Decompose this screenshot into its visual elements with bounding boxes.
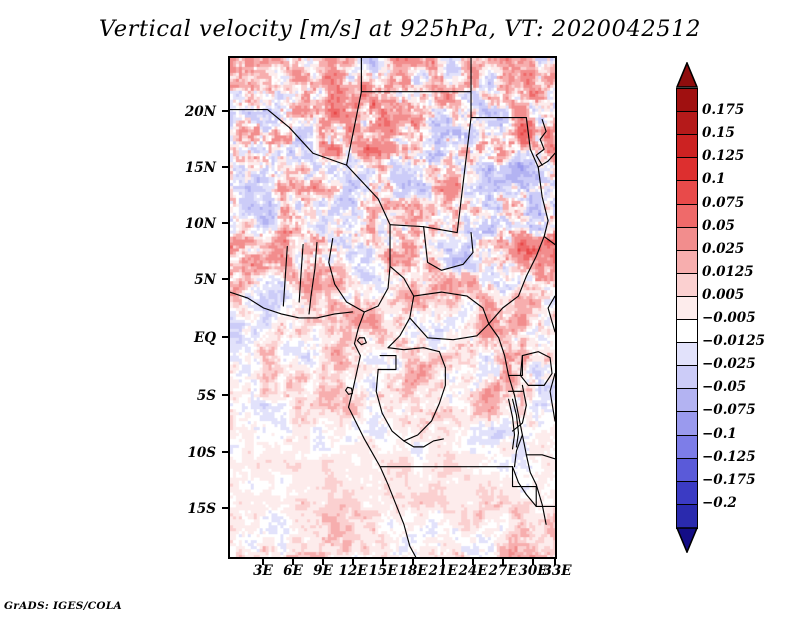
y-axis-label-20N: 20N: [158, 104, 216, 120]
colorbar-tick-label: 0.025: [702, 241, 744, 257]
colorbar-tick-label: 0.125: [702, 148, 744, 164]
colorbar-band: [676, 134, 698, 159]
colorbar-tick-label: 0.005: [702, 287, 744, 303]
colorbar-band: [676, 504, 698, 529]
colorbar-tick-label: −0.2: [702, 495, 737, 511]
y-axis-label-5N: 5N: [158, 272, 216, 288]
colorbar-tick-label: −0.025: [702, 356, 756, 372]
colorbar-min-arrow: [676, 527, 698, 553]
y-axis-label-15N: 15N: [158, 160, 216, 176]
y-axis-label-5S: 5S: [158, 388, 216, 404]
y-tick: [222, 451, 228, 453]
y-tick: [222, 166, 228, 168]
colorbar-band: [676, 481, 698, 506]
colorbar-tick-label: 0.1: [702, 171, 726, 187]
colorbar: [676, 62, 698, 553]
y-tick: [222, 507, 228, 509]
colorbar-tick-label: 0.075: [702, 195, 744, 211]
y-tick: [222, 278, 228, 280]
colorbar-tick-label: −0.0125: [702, 333, 765, 349]
y-tick: [222, 110, 228, 112]
colorbar-tick-label: −0.05: [702, 379, 746, 395]
colorbar-tick-label: 0.05: [702, 218, 735, 234]
colorbar-band: [676, 342, 698, 367]
colorbar-tick-label: −0.1: [702, 426, 737, 442]
colorbar-tick-label: −0.125: [702, 449, 756, 465]
colorbar-band: [676, 88, 698, 113]
colorbar-band: [676, 435, 698, 460]
colorbar-band: [676, 319, 698, 344]
colorbar-band: [676, 411, 698, 436]
colorbar-tick-label: −0.075: [702, 402, 756, 418]
colorbar-tick-label: 0.175: [702, 102, 744, 118]
colorbar-band: [676, 250, 698, 275]
colorbar-band: [676, 458, 698, 483]
colorbar-band: [676, 204, 698, 229]
y-axis-label-10S: 10S: [158, 445, 216, 461]
x-axis-label-33E: 33E: [537, 563, 577, 579]
colorbar-max-arrow: [676, 62, 698, 88]
y-tick: [222, 222, 228, 224]
country-borders-overlay: [230, 58, 555, 557]
y-axis-label-EQ: EQ: [158, 330, 216, 346]
page-title: Vertical velocity [m/s] at 925hPa, VT: 2…: [0, 16, 800, 42]
map-plot-area: [228, 56, 557, 559]
colorbar-band: [676, 273, 698, 298]
y-tick: [222, 394, 228, 396]
colorbar-band: [676, 157, 698, 182]
y-axis-label-10N: 10N: [158, 216, 216, 232]
colorbar-tick-label: −0.005: [702, 310, 756, 326]
y-axis-label-15S: 15S: [158, 501, 216, 517]
colorbar-band: [676, 296, 698, 321]
colorbar-tick-label: 0.0125: [702, 264, 754, 280]
colorbar-band: [676, 180, 698, 205]
colorbar-band: [676, 111, 698, 136]
colorbar-band: [676, 365, 698, 390]
y-tick: [222, 336, 228, 338]
grads-credit: GrADS: IGES/COLA: [4, 600, 122, 612]
colorbar-band: [676, 388, 698, 413]
colorbar-band: [676, 227, 698, 252]
colorbar-tick-label: 0.15: [702, 125, 735, 141]
colorbar-tick-label: −0.175: [702, 472, 756, 488]
